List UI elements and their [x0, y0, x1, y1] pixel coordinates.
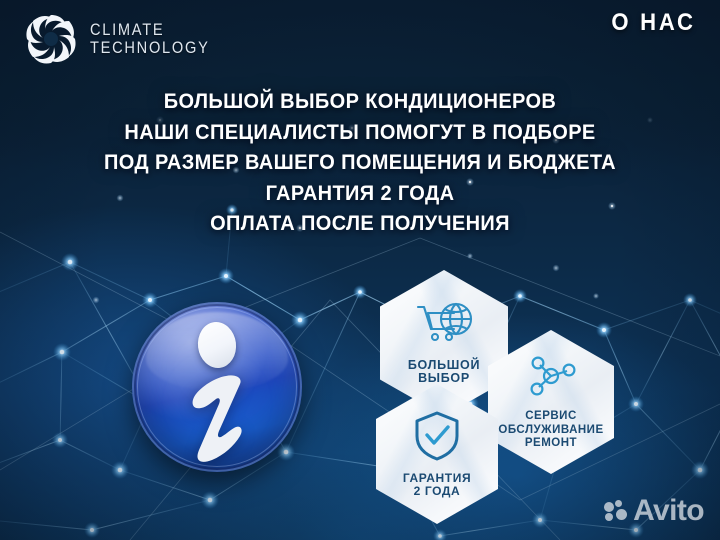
- headline-block: БОЛЬШОЙ ВЫБОР КОНДИЦИОНЕРОВ НАШИ СПЕЦИАЛ…: [0, 86, 720, 239]
- feature-caption-warranty: ГАРАНТИЯ 2 ГОДА: [403, 472, 471, 499]
- fan-spiral-logo-icon: [20, 8, 82, 70]
- feature-caption-service-line2: ОБСЛУЖИВАНИЕ: [498, 424, 603, 438]
- molecule-network-icon: [524, 353, 578, 402]
- avito-dots-icon: [604, 500, 628, 522]
- shield-check-icon: [413, 410, 461, 465]
- feature-caption-service-line1: СЕРВИС: [498, 410, 603, 424]
- brand-name: CLIMATE TECHNOLOGY: [90, 21, 210, 58]
- shopping-cart-globe-icon: [414, 301, 474, 350]
- feature-caption-service-line3: РЕМОНТ: [498, 437, 603, 451]
- promo-banner: CLIMATE TECHNOLOGY О НАС БОЛЬШОЙ ВЫБОР К…: [0, 0, 720, 540]
- feature-caption-warranty-line1: ГАРАНТИЯ: [403, 472, 471, 486]
- brand-logo[interactable]: CLIMATE TECHNOLOGY: [20, 8, 229, 70]
- avito-watermark: Avito: [604, 496, 704, 526]
- letter-i-stem: [174, 372, 260, 464]
- headline-line-2: НАШИ СПЕЦИАЛИСТЫ ПОМОГУТ В ПОДБОРЕ: [25, 117, 695, 148]
- headline-line-4: ГАРАНТИЯ 2 ГОДА: [25, 178, 695, 209]
- avito-wordmark: Avito: [633, 496, 704, 526]
- headline-line-1: БОЛЬШОЙ ВЫБОР КОНДИЦИОНЕРОВ: [25, 86, 695, 117]
- headline-line-5: ОПЛАТА ПОСЛЕ ПОЛУЧЕНИЯ: [25, 208, 695, 239]
- feature-caption-warranty-line2: 2 ГОДА: [403, 485, 471, 499]
- headline-line-3: ПОД РАЗМЕР ВАШЕГО ПОМЕЩЕНИЯ И БЮДЖЕТА: [25, 147, 695, 178]
- feature-caption-choice: БОЛЬШОЙ ВЫБОР: [408, 359, 480, 386]
- feature-caption-service: СЕРВИС ОБСЛУЖИВАНИЕ РЕМОНТ: [498, 410, 603, 451]
- section-title: О НАС: [612, 9, 696, 37]
- brand-name-line1: CLIMATE: [90, 21, 210, 39]
- feature-caption-choice-line1: БОЛЬШОЙ: [408, 359, 480, 373]
- feature-caption-choice-line2: ВЫБОР: [408, 372, 480, 386]
- information-letter-i-icon: [132, 302, 302, 472]
- brand-name-line2: TECHNOLOGY: [90, 39, 210, 57]
